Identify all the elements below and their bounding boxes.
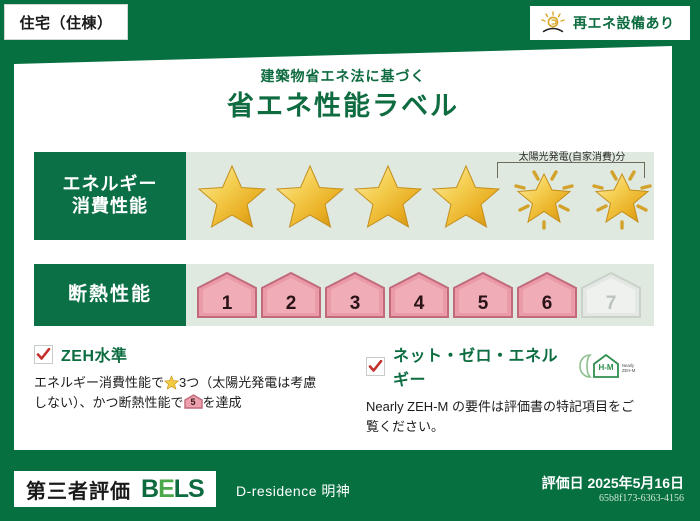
house-badge-number: 5 (184, 396, 203, 410)
label-title: 省エネ性能ラベル (14, 84, 672, 123)
note-zeh-header: ZEH水準 (34, 342, 328, 366)
note-zeh-body: エネルギー消費性能で 3つ（太陽光発電は考慮しない）、かつ断熱性能で 5 を達成 (34, 373, 328, 413)
bels-plate: 第三者評価 BELS (14, 471, 216, 507)
notes-area: ZEH水準 エネルギー消費性能で 3つ（太陽光発電は考慮しない）、かつ断熱性能で… (34, 342, 654, 432)
bels-logo: BELS (141, 475, 204, 504)
third-party-eval-label: 第三者評価 (26, 475, 131, 504)
insulation-grade-5: 5 (452, 271, 514, 319)
star-filled-3 (350, 158, 426, 234)
note-zeh-title: ZEH水準 (61, 342, 128, 366)
star-filled-2 (272, 158, 348, 234)
insulation-performance-label: 断熱性能 (34, 264, 186, 326)
zeh-m-house-icon: H-M Nearly ZEH-M (576, 353, 638, 379)
star-rating (186, 152, 654, 240)
check-icon (366, 357, 385, 376)
star-icon (164, 375, 179, 390)
insulation-grade-6: 6 (516, 271, 578, 319)
energy-performance-body: 太陽光発電(自家消費)分 (186, 152, 654, 240)
note-net-zero-energy: ネット・ゼロ・エネルギー H-M Nearly ZEH-M Nearly ZEH… (344, 342, 654, 432)
svg-text:ZEH-M: ZEH-M (622, 368, 636, 373)
star-filled-4 (428, 158, 504, 234)
check-icon (34, 345, 53, 364)
insulation-label-text: 断熱性能 (68, 284, 152, 307)
note-nze-body: Nearly ZEH-M の要件は評価書の特記項目をご覧ください。 (366, 397, 638, 437)
building-type-text: 住宅（住棟） (19, 12, 112, 33)
note-zeh-body-part3: を達成 (203, 395, 242, 410)
bels-letter-b: B (141, 475, 158, 503)
insulation-grade-7-number: 7 (606, 293, 617, 319)
label-subtitle: 建築物省エネ法に基づく (14, 66, 672, 86)
label-content: 建築物省エネ法に基づく 省エネ性能ラベル エネルギー 消費性能 太陽光発電(自家… (14, 46, 672, 450)
insulation-grade-2: 2 (260, 271, 322, 319)
house-badge-icon: 5 (184, 394, 203, 409)
bels-letter-e: E (158, 475, 174, 503)
star-solar-6 (584, 158, 660, 234)
insulation-grade-7: 7 (580, 271, 642, 319)
building-type-chip: 住宅（住棟） (4, 4, 128, 40)
footer-bar: 第三者評価 BELS D-residence 明神 評価日 2025年5月16日… (0, 459, 700, 521)
star-solar-5 (506, 158, 582, 234)
note-zeh-standard: ZEH水準 エネルギー消費性能で 3つ（太陽光発電は考慮しない）、かつ断熱性能で… (34, 342, 344, 432)
insulation-grade-3: 3 (324, 271, 386, 319)
energy-performance-label: エネルギー 消費性能 (34, 152, 186, 240)
insulation-grade-1-number: 1 (222, 293, 233, 319)
bels-energy-label: 住宅（住棟） 再エネ設備あり 建築物省エネ法に基づく 省エネ性能ラベル (0, 0, 700, 521)
note-nze-header: ネット・ゼロ・エネルギー H-M Nearly ZEH-M (366, 342, 638, 390)
insulation-grade-1: 1 (196, 271, 258, 319)
star-filled-1 (194, 158, 270, 234)
insulation-performance-row: 断熱性能 1 (34, 264, 654, 326)
energy-performance-row: エネルギー 消費性能 太陽光発電(自家消費)分 (34, 152, 654, 240)
insulation-grade-4: 4 (388, 271, 450, 319)
insulation-grade-3-number: 3 (350, 293, 361, 319)
insulation-performance-body: 1 2 3 (186, 264, 654, 326)
insulation-grade-scale: 1 2 3 (186, 264, 654, 326)
evaluation-id: 65b8f173-6363-4156 (599, 493, 684, 504)
insulation-grade-4-number: 4 (414, 293, 425, 319)
svg-text:H-M: H-M (598, 363, 613, 372)
insulation-grade-2-number: 2 (286, 293, 297, 319)
sun-icon (540, 11, 566, 35)
note-nze-title: ネット・ゼロ・エネルギー (393, 342, 568, 390)
note-zeh-body-part1: エネルギー消費性能で (34, 375, 164, 390)
insulation-grade-6-number: 6 (542, 293, 553, 319)
evaluation-date: 評価日 2025年5月16日 (542, 473, 684, 493)
renewable-badge-label: 再エネ設備あり (573, 13, 675, 33)
insulation-grade-5-number: 5 (478, 293, 489, 319)
bels-letter-l: L (174, 475, 188, 503)
renewable-energy-badge: 再エネ設備あり (530, 6, 690, 40)
energy-label-line1: エネルギー (63, 174, 158, 196)
building-name: D-residence 明神 (236, 481, 350, 501)
energy-label-line2: 消費性能 (72, 196, 148, 218)
bels-letter-s: S (188, 475, 204, 503)
